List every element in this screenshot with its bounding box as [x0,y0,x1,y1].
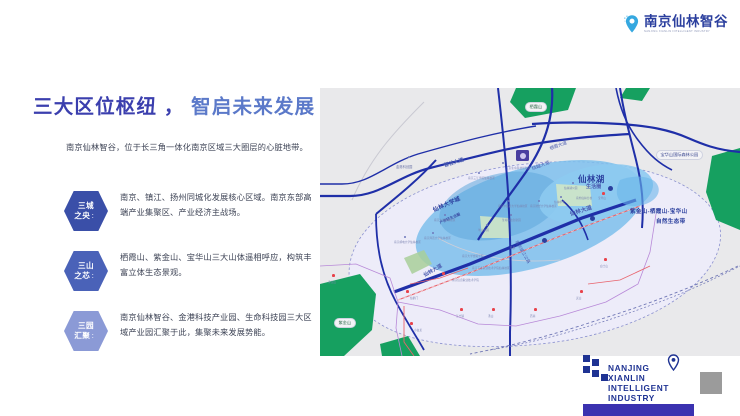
poi-label: 白土山 [600,264,608,268]
page-title: 三大区位枢纽 ， 智启未来发展 [33,90,315,119]
poi-dot-red [534,308,537,311]
poi-label: 南京师范大学仙林校区 [424,236,451,240]
badge-wrap: 三园 汇聚 ： [62,310,110,351]
poi-label: 南京工业职业技术学院仙林校区 [472,266,510,270]
poi-dot-red [410,322,413,325]
status-badge: 三城 之央 ： [64,191,108,231]
list-item: 三园 汇聚 ： 南京仙林智谷、金港科技产业园、生命科技园三大区域产业园汇聚于此，… [62,310,312,351]
badge-wrap: 三山 之芯 ： [62,250,110,291]
poi-label: 青龙山 [328,280,336,284]
list-item-text: 南京仙林智谷、金港科技产业园、生命科技园三大区域产业园汇聚于此，集聚未来发展势能… [120,310,312,340]
poi-label: 南京中医药大学仙林校区 [498,204,528,208]
poi-dot-red [460,308,463,311]
poi-label: 南京邮电大学仙林校区 [394,240,421,244]
status-badge: 三园 汇聚 ： [64,311,108,351]
badge-line1: 三山 [78,261,94,271]
footer-line2: XIANLIN INTELLIGENT [608,373,669,393]
page-title-part1: 三大区位枢纽 [33,96,157,118]
badge-line2: 汇聚 [74,331,90,341]
poi-dot-red [332,274,335,277]
map-label-eco-belt-line2: 自然生态带 [656,217,685,225]
logo-title-cn: 南京仙林智谷 [644,15,728,29]
logo-title-en: NANJING XIANLIN INTELLIGENT INDUSTRY [644,31,728,34]
page-title-part2: 智启未来发展 [191,96,315,118]
footer-logo-text: NANJING XIANLIN INTELLIGENT INDUSTRY [608,363,669,403]
map-label-mt-zijin: 紫金山 [334,318,356,328]
slide-root: 南京仙林智谷 NANJING XIANLIN INTELLIGENT INDUS… [0,0,740,416]
map-label-jingang: 金港科创园 [396,164,412,169]
poi-label: 仙林中学 [554,200,565,204]
poi-label: 南京信息职业技术学院 [452,278,479,282]
poi-dot-red [580,290,583,293]
list-item: 三山 之芯 ： 栖霞山、紫金山、宝华山三大山体遥相呼应，构筑丰富立体生态景观。 [62,250,312,291]
poi-label: 汤山 [488,314,493,318]
poi-label: 南京大学仙林校区 [434,218,456,222]
poi-dot-red [442,272,445,275]
poi-label: 马群 [510,246,515,250]
poi-label: 南外仙林分校 [576,196,592,200]
footer-line1: NANJING [608,363,669,373]
poi-dot-red [492,308,495,311]
badge-colon: ： [91,213,97,221]
poi-label: 灵山 [576,296,581,300]
region-map[interactable]: 仙林湖 生活圈 仙林大学城 产学研生活圈 紫金山-栖霞山-宝华山 自然生态带 智… [320,88,740,356]
decorative-gray-square [700,372,722,394]
poi-label: 仙林湖公园 [564,186,577,190]
highlight-marker-badge[interactable] [516,150,529,161]
poi-label: 西岗 [530,314,535,318]
poi-label: 生命科技创新园 [502,218,521,222]
location-pin-icon [624,14,640,34]
header-logo: 南京仙林智谷 NANJING XIANLIN INTELLIGENT INDUS… [624,14,728,34]
intro-paragraph: 南京仙林智谷，位于长三角一体化南京区域三大圈层的心脏地带。 [66,140,314,155]
badge-line1: 三城 [78,201,94,211]
poi-label: 仙鹤门 [410,296,418,300]
list-item-text: 南京、镇江、扬州同城化发展核心区域。南京东部高端产业集聚区、产业经济主战场。 [120,190,312,220]
status-badge: 三山 之芯 ： [64,251,108,291]
badge-line1: 三园 [78,321,94,331]
poi-label: 宝华山 [598,196,606,200]
badge-wrap: 三城 之央 ： [62,190,110,231]
poi-label: 江苏生命科技创新园 [506,166,530,170]
map-label-eco-belt-line1: 紫金山-栖霞山-宝华山 [630,207,687,215]
decorative-blue-bar [583,404,694,416]
map-label-park-baohua: 宝华山国际森林公园 [656,150,703,160]
poi-label: 南京三江学院仙林校区 [468,176,495,180]
badge-line2: 之央 [74,211,90,221]
poi-label: 南京大学金陵学院 [462,254,484,258]
page-title-separator: ， [164,96,185,118]
map-label-lake-sub: 生活圈 [586,183,601,190]
poi-dot-red [604,258,607,261]
footer-line3: INDUSTRY [608,393,669,403]
poi-label: 江宁镇 [456,314,464,318]
badge-inner-icon [520,153,526,159]
map-label-mt-qixia: 栖霞山 [525,102,547,112]
poi-label: 羊山公园 [478,228,489,232]
list-item: 三城 之央 ： 南京、镇江、扬州同城化发展核心区域。南京东部高端产业集聚区、产业… [62,190,312,231]
badge-colon: ： [91,333,97,341]
badge-colon: ： [91,273,97,281]
poi-label: 南京财经大学仙林校区 [530,204,557,208]
list-item-text: 栖霞山、紫金山、宝华山三大山体遥相呼应，构筑丰富立体生态景观。 [120,250,312,280]
poi-dot-red [602,192,605,195]
badge-line2: 之芯 [74,271,90,281]
location-pin-icon [667,354,680,376]
poi-label: 小白龙 [414,328,422,332]
poi-dot-red [406,290,409,293]
